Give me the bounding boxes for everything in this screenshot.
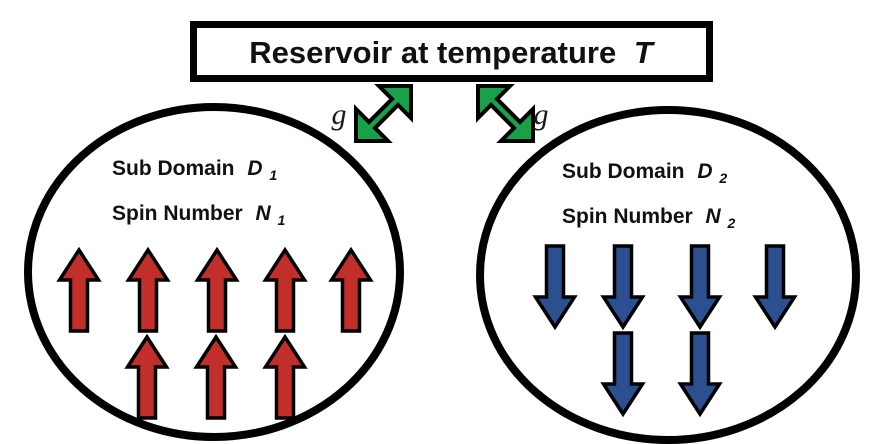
spin-number-2-subscript: 2 (727, 215, 736, 231)
sub-domain-1-subscript: 1 (269, 167, 277, 183)
coupling-arrow-left-shape (356, 86, 411, 141)
coupling-arrow-right-shape (478, 86, 533, 141)
sub-domain-1-label: Sub Domain D 1 (112, 157, 277, 183)
sub-domain-2-label-prefix: Sub Domain (562, 160, 685, 183)
spin-number-2-label: Spin Number N 2 (562, 205, 736, 231)
sub-domain-1-label-prefix: Sub Domain (112, 157, 235, 180)
diagram-canvas: Sub Domain D 1 Spin Number N 1 Sub Domai… (0, 0, 886, 444)
reservoir-temperature-symbol: T (634, 35, 656, 70)
spin-number-2-label-prefix: Spin Number (562, 205, 693, 228)
sub-domain-2-subscript: 2 (718, 170, 727, 186)
spin-number-1-label-prefix: Spin Number (112, 202, 243, 225)
reservoir-label-prefix: Reservoir at temperature (249, 35, 616, 70)
spin-number-1-label: Spin Number N 1 (112, 202, 286, 228)
spin-number-1-symbol: N (256, 202, 272, 225)
sub-domain-2-label: Sub Domain D 2 (562, 160, 727, 186)
reservoir-label: Reservoir at temperature T (249, 35, 656, 70)
coupling-label-left: g (332, 98, 347, 131)
spin-number-1-subscript: 1 (278, 212, 286, 228)
coupling-arrow-right (478, 86, 533, 141)
sub-domain-2-symbol: D (697, 160, 712, 183)
sub-domain-1-symbol: D (247, 157, 262, 180)
spin-number-2-symbol: N (706, 205, 722, 228)
coupling-arrow-left (356, 86, 411, 141)
spin-domain-diagram: Sub Domain D 1 Spin Number N 1 Sub Domai… (0, 0, 886, 444)
coupling-label-right: g (534, 98, 549, 131)
